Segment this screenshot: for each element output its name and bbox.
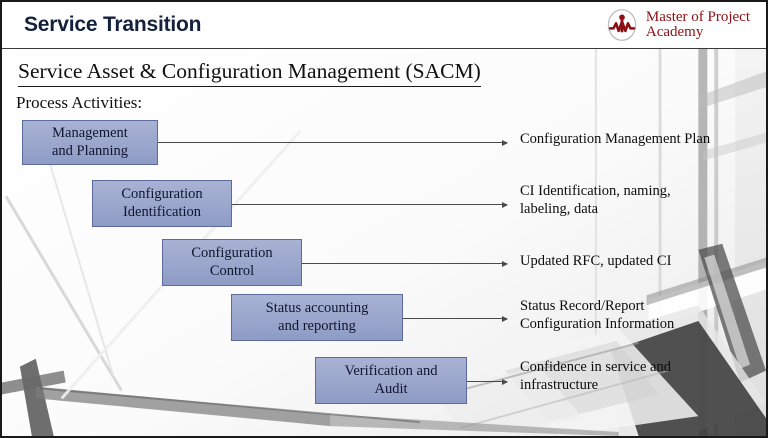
activity-box-line-1: Configuration <box>121 186 202 204</box>
header-bar: Service Transition Master of Project Aca… <box>2 2 766 49</box>
activity-box-line-1: Management <box>52 125 128 143</box>
page-title: Service Asset & Configuration Management… <box>18 59 481 87</box>
activity-box-line-1: Configuration <box>191 245 272 263</box>
activity-box-line-1: Verification and <box>344 363 437 381</box>
activity-box-line-2: Control <box>210 263 254 281</box>
output-label-line-1: CI Identification, naming, <box>520 183 671 201</box>
runner-figure-circle-logo-icon <box>605 8 639 42</box>
output-label-line-1: Confidence in service and <box>520 359 671 377</box>
connector-line-3 <box>302 263 507 264</box>
activity-box-line-2: Audit <box>374 381 407 399</box>
output-label-2: CI Identification, naming, labeling, dat… <box>520 183 671 218</box>
activity-box-configuration-identification[interactable]: Configuration Identification <box>92 180 232 227</box>
output-label-1: Configuration Management Plan <box>520 131 710 149</box>
output-label-line-1: Configuration Management Plan <box>520 131 710 149</box>
output-label-line-2: infrastructure <box>520 377 671 395</box>
activity-box-line-2: and Planning <box>52 143 128 161</box>
brand-logo: Master of Project Academy <box>605 8 750 42</box>
output-label-4: Status Record/Report Configuration Infor… <box>520 298 674 333</box>
activity-box-line-2: and reporting <box>278 318 356 336</box>
output-label-line-2: Configuration Information <box>520 316 674 334</box>
connector-line-4 <box>403 318 507 319</box>
brand-text: Master of Project Academy <box>646 10 750 41</box>
activity-box-status-accounting-and-reporting[interactable]: Status accounting and reporting <box>231 294 403 341</box>
section-subtitle: Process Activities: <box>16 93 142 113</box>
connector-line-5 <box>467 381 507 382</box>
slide-content: Service Asset & Configuration Management… <box>2 49 766 436</box>
connector-line-1 <box>158 142 507 143</box>
activity-box-line-1: Status accounting <box>266 300 369 318</box>
brand-line-1: Master of Project <box>646 10 750 25</box>
output-label-line-1: Updated RFC, updated CI <box>520 253 671 271</box>
header-title: Service Transition <box>24 13 201 37</box>
output-label-3: Updated RFC, updated CI <box>520 253 671 271</box>
output-label-line-1: Status Record/Report <box>520 298 674 316</box>
output-label-line-2: labeling, data <box>520 201 671 219</box>
brand-line-2: Academy <box>646 25 750 40</box>
connector-line-2 <box>232 204 507 205</box>
activity-box-management-and-planning[interactable]: Management and Planning <box>22 120 158 165</box>
activity-box-line-2: Identification <box>123 204 201 222</box>
activity-box-verification-and-audit[interactable]: Verification and Audit <box>315 357 467 404</box>
slide: Service Transition Master of Project Aca… <box>0 0 768 438</box>
output-label-5: Confidence in service and infrastructure <box>520 359 671 394</box>
activity-box-configuration-control[interactable]: Configuration Control <box>162 239 302 286</box>
